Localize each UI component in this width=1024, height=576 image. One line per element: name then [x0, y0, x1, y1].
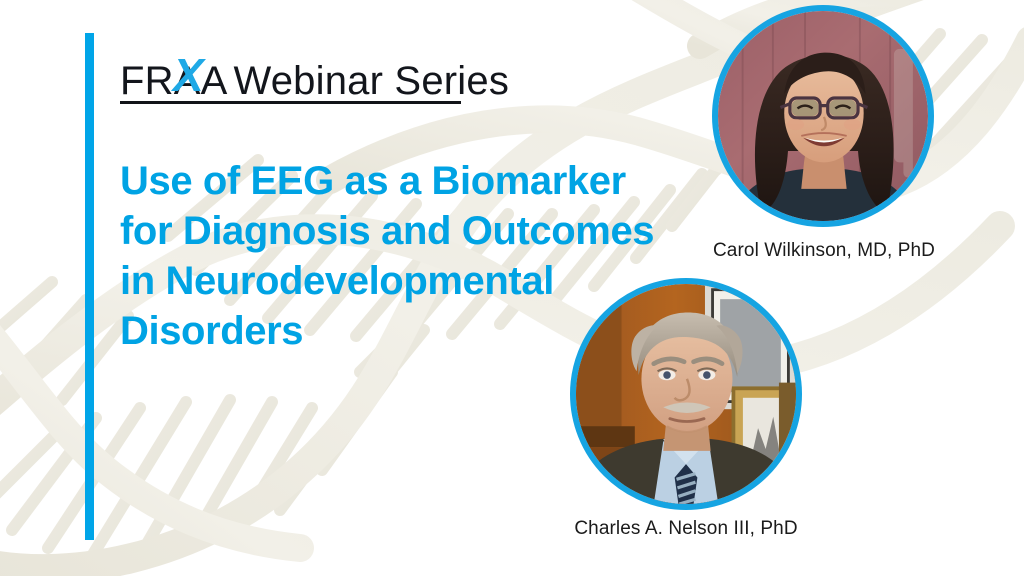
left-accent-bar	[85, 33, 94, 540]
webinar-series-label: Webinar Series	[234, 58, 510, 104]
speaker-photo-charles-nelson	[570, 278, 802, 510]
avatar	[718, 11, 928, 221]
speaker-name-carol-wilkinson: Carol Wilkinson, MD, PhD	[710, 240, 938, 262]
title-line-2: for Diagnosis and Outcomes	[120, 206, 740, 256]
fraxa-wordmark: FRAAX	[120, 58, 228, 104]
title-line-1: Use of EEG as a Biomarker	[120, 156, 740, 206]
webinar-title-slide: FRAAXWebinar Series Use of EEG as a Biom…	[0, 0, 1024, 576]
avatar	[576, 284, 796, 504]
fraxa-logo: FRAAXWebinar Series	[120, 58, 509, 104]
speaker-photo-carol-wilkinson	[712, 5, 934, 227]
eyebrow-underline	[120, 101, 461, 104]
speaker-name-charles-nelson: Charles A. Nelson III, PhD	[562, 518, 810, 540]
fraxa-wordmark-suffix: A	[201, 59, 228, 103]
fraxa-webinar-series-lockup: FRAAXWebinar Series	[120, 58, 509, 104]
fraxa-x-icon: X	[173, 52, 204, 98]
